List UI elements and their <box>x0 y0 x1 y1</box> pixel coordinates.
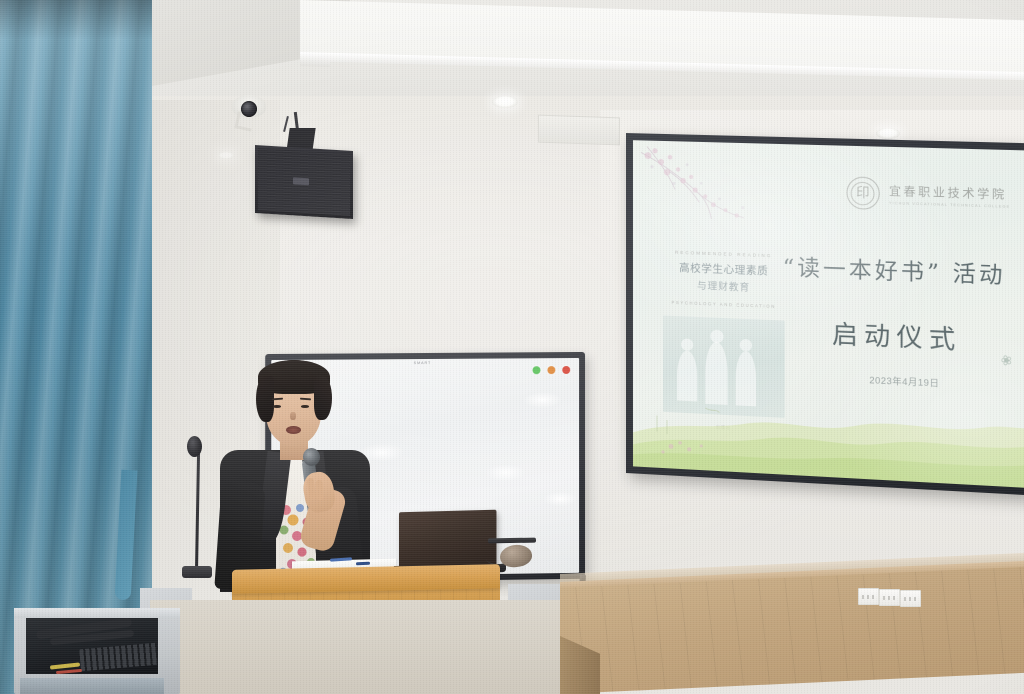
whiteboard-brand: SMART <box>414 361 432 365</box>
downlight-icon <box>492 96 518 108</box>
presenter-mouth <box>286 426 301 434</box>
floor <box>150 600 570 694</box>
seal-glyph: 印 <box>856 186 870 200</box>
watercolor-hills-icon <box>633 374 1024 488</box>
projection-screen[interactable]: 印 宜春职业技术学院 YICHUN VOCATIONAL TECHNICAL C… <box>626 133 1024 496</box>
whiteboard-status-dots <box>533 366 571 374</box>
book-subtitle: 与理财教育 <box>663 276 785 295</box>
presenter-finger <box>315 480 323 500</box>
slide-headline: “读一本好书” 活动 <box>783 250 1024 292</box>
stage-floor <box>560 567 1024 694</box>
downlight-icon <box>218 152 234 159</box>
wall-switch-plate[interactable] <box>900 590 921 607</box>
switch-rockers <box>904 597 917 601</box>
screen-frame: 印 宜春职业技术学院 YICHUN VOCATIONAL TECHNICAL C… <box>626 133 1024 496</box>
board-glare <box>524 392 562 408</box>
gooseneck-mic-left-head <box>187 436 202 457</box>
status-dot-record <box>562 366 570 374</box>
speaker-badge <box>293 177 309 185</box>
swoosh-icon: ❀ <box>999 351 1015 370</box>
security-camera-icon <box>241 101 257 117</box>
wall-speaker-icon <box>255 145 353 219</box>
cherry-blossom-icon <box>639 144 791 260</box>
institution-name-english: YICHUN VOCATIONAL TECHNICAL COLLEGE <box>889 201 1010 209</box>
wall-switch-plate[interactable] <box>858 588 879 605</box>
board-glare <box>486 464 526 481</box>
av-equipment-cart[interactable] <box>14 608 180 694</box>
air-vent-icon <box>538 115 620 146</box>
switch-rockers <box>883 596 896 600</box>
slide-surface: 印 宜春职业技术学院 YICHUN VOCATIONAL TECHNICAL C… <box>633 140 1024 488</box>
curtain-top-shadow <box>0 0 152 40</box>
cart-top-surface <box>14 608 180 618</box>
book-kicker-secondary: PSYCHOLOGY AND EDUCATION <box>663 299 785 309</box>
presenter-nose <box>290 412 296 420</box>
status-dot-standby <box>547 366 555 374</box>
red-wire <box>56 669 82 674</box>
lecture-hall-photo: 印 宜春职业技术学院 YICHUN VOCATIONAL TECHNICAL C… <box>0 0 1024 694</box>
institution-name: 宜春职业技术学院 <box>889 183 1010 203</box>
presenter <box>210 360 380 590</box>
wall-switch-plate[interactable] <box>879 589 900 606</box>
downlight-icon <box>876 128 900 139</box>
gooseneck-mic-base <box>182 566 212 578</box>
slide-subheadline: 启动仪式 <box>832 314 962 356</box>
institution-logo: 印 宜春职业技术学院 YICHUN VOCATIONAL TECHNICAL C… <box>846 176 1010 214</box>
presenter-hair-side <box>314 376 332 420</box>
board-glare <box>543 491 577 506</box>
desk-rail <box>488 538 536 544</box>
switch-rockers <box>862 595 875 599</box>
stage-wood-grain <box>560 567 1024 694</box>
cart-shelf <box>20 678 164 694</box>
seal-icon: 印 <box>846 176 879 210</box>
book-title: 高校学生心理素质 <box>663 259 785 279</box>
cart-open-bay <box>26 618 158 674</box>
mixer-keypad[interactable] <box>79 643 158 672</box>
status-dot-power <box>533 366 541 374</box>
